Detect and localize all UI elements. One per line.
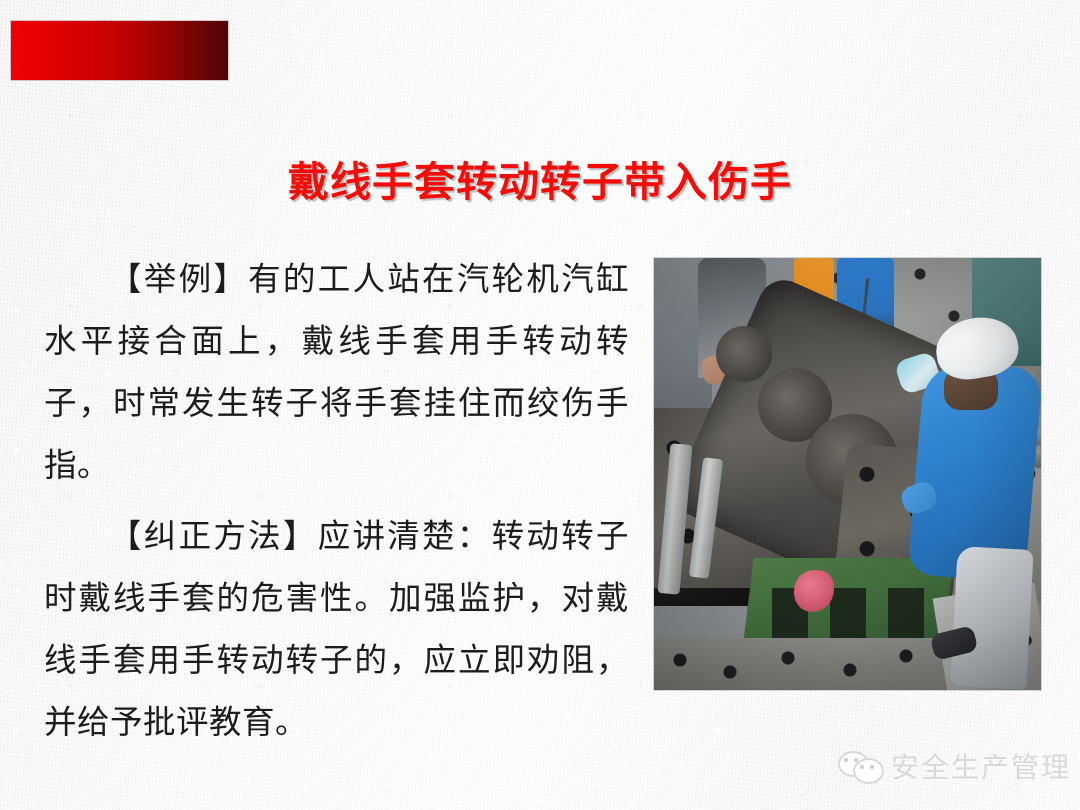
wechat-dot-4 [870, 765, 874, 769]
photo-main-worker-pants [950, 546, 1033, 690]
red-accent-bar [11, 21, 228, 80]
page-title: 戴线手套转动转子带入伤手 [0, 148, 1080, 208]
watermark: 安全生产管理 [838, 746, 1071, 786]
wechat-icon [838, 751, 882, 781]
turbine-rotor-photo [653, 257, 1042, 691]
watermark-label: 安全生产管理 [891, 746, 1071, 786]
wechat-dot-2 [854, 758, 858, 762]
photo-rotor-disc-1 [716, 326, 772, 382]
wechat-bubble-front [853, 758, 884, 784]
wechat-dot-1 [844, 758, 848, 762]
photo-steel-deck-lower [654, 638, 954, 690]
photo-content [654, 258, 1041, 690]
paragraph-correction: 【纠正方法】应讲清楚：转动转子时戴线手套的危害性。加强监护，对戴线手套用手转动转… [44, 505, 629, 753]
wechat-dot-3 [860, 765, 864, 769]
paragraph-example: 【举例】有的工人站在汽轮机汽缸水平接合面上，戴线手套用手转动转子，时常发生转子将… [44, 248, 629, 496]
body-text-column: 【举例】有的工人站在汽轮机汽缸水平接合面上，戴线手套用手转动转子，时常发生转子将… [44, 248, 629, 753]
slide-canvas: 戴线手套转动转子带入伤手 【举例】有的工人站在汽轮机汽缸水平接合面上，戴线手套用… [0, 0, 1080, 810]
